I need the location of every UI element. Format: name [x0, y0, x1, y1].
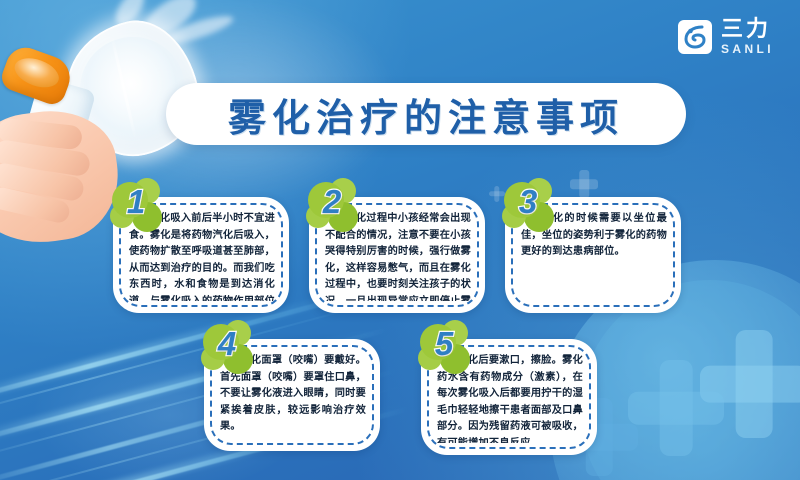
medical-cross-icon [700, 330, 800, 438]
tip-badge-4: 4 [199, 320, 259, 378]
tip-badge-2: 2 [304, 178, 364, 236]
tip-number-3: 3 [500, 176, 556, 228]
logo-cn-name: 三力 [721, 18, 774, 40]
logo-wordmark: 三力 SANLI [721, 18, 774, 55]
tip-number-5: 5 [416, 318, 472, 370]
tip-badge-3: 3 [500, 178, 560, 236]
medical-cross-icon [570, 170, 598, 198]
sanli-leaf-icon [678, 20, 712, 54]
poster-canvas: 三力 SANLI 雾化治疗的注意事项 雾化吸入前后半小时不宜进食。雾化是将药物汽… [0, 0, 800, 480]
tip-number-1: 1 [108, 176, 164, 228]
tip-number-4: 4 [199, 318, 255, 370]
tip-number-2: 2 [304, 176, 360, 228]
medical-cross-icon [628, 360, 724, 456]
tip-badge-1: 1 [108, 178, 168, 236]
brand-logo[interactable]: 三力 SANLI [678, 18, 774, 55]
logo-en-name: SANLI [721, 43, 774, 55]
tip-badge-5: 5 [416, 320, 476, 378]
page-title: 雾化治疗的注意事项 [228, 87, 624, 142]
page-title-pill: 雾化治疗的注意事项 [166, 83, 686, 145]
